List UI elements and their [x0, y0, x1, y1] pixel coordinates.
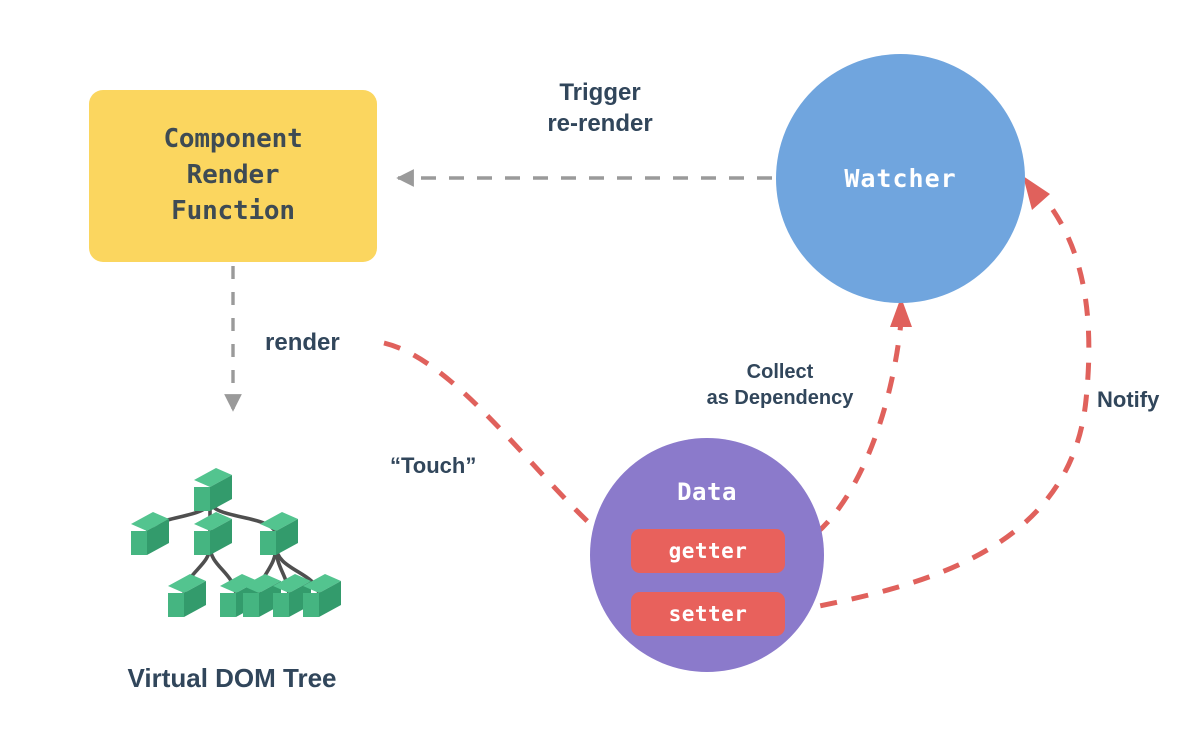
- edge-label-trigger-re-render: Trigger re-render: [505, 78, 695, 139]
- data-setter-box[interactable]: setter: [631, 592, 785, 636]
- virtual-dom-tree-label: Virtual DOM Tree: [100, 662, 364, 695]
- data-getter-label: getter: [669, 539, 748, 563]
- edge-label-render: render: [265, 328, 340, 359]
- vdom-cube-child-2: [194, 512, 232, 555]
- data-getter-box[interactable]: getter: [631, 529, 785, 573]
- watcher-label: Watcher: [844, 164, 956, 193]
- edge-label-touch: “Touch”: [390, 452, 476, 480]
- vdom-cube-root: [194, 468, 232, 511]
- edge-label-collect-as-dependency: Collect as Dependency: [686, 360, 874, 411]
- vdom-cube-leaf-1: [168, 574, 206, 617]
- node-virtual-dom-tree[interactable]: [120, 462, 350, 647]
- node-data[interactable]: Data getter setter: [590, 438, 824, 672]
- diagram-canvas: Component Render Function Watcher Data g…: [0, 0, 1200, 750]
- vdom-cubes: [131, 468, 341, 617]
- component-render-function-label: Component Render Function: [163, 122, 302, 230]
- node-component-render-function[interactable]: Component Render Function: [89, 90, 377, 262]
- data-setter-label: setter: [669, 602, 748, 626]
- data-label: Data: [590, 478, 824, 506]
- edge-label-notify: Notify: [1097, 386, 1159, 414]
- node-watcher[interactable]: Watcher: [776, 54, 1025, 303]
- vdom-cube-child-1: [131, 512, 169, 555]
- vdom-cube-child-3: [260, 512, 298, 555]
